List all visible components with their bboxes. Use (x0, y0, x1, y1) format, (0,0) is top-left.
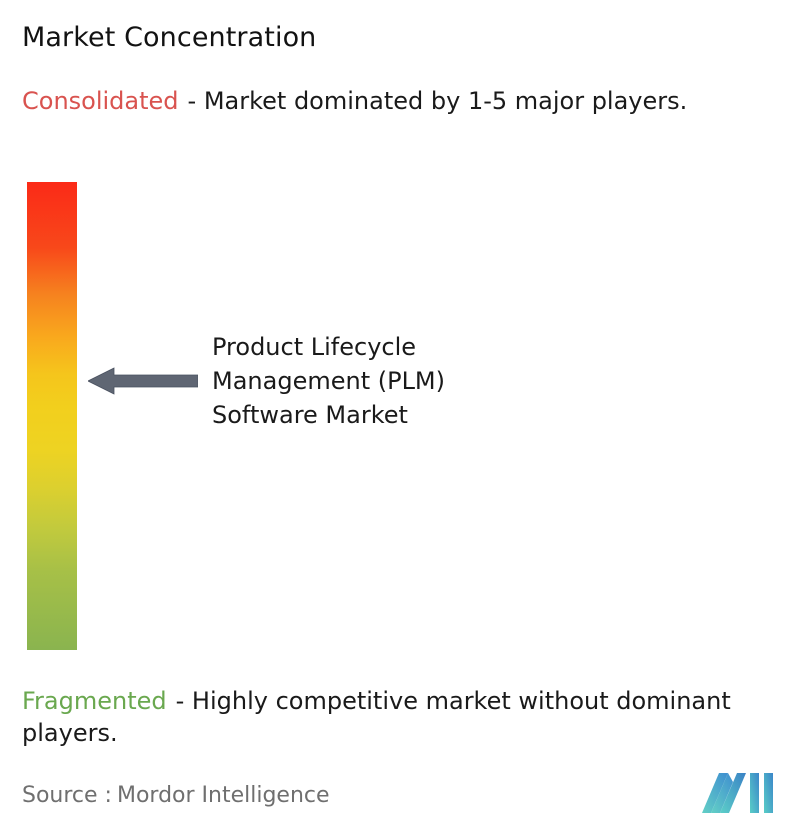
marker-label-line-1: Product Lifecycle (212, 330, 542, 364)
legend-consolidated-description: - Market dominated by 1-5 major players. (188, 87, 688, 115)
legend-fragmented-keyword: Fragmented (22, 687, 167, 715)
source-attribution: Source :Mordor Intelligence (22, 781, 330, 811)
mordor-intelligence-logo-icon (702, 769, 774, 817)
footer: Source :Mordor Intelligence (22, 781, 774, 821)
left-arrow-icon (88, 367, 198, 395)
marker-label-line-2: Management (PLM) (212, 364, 542, 398)
page-title: Market Concentration (22, 20, 316, 56)
source-name: Mordor Intelligence (117, 783, 330, 808)
legend-fragmented: Fragmented- Highly competitive market wi… (22, 685, 788, 749)
marker-label-line-3: Software Market (212, 398, 542, 432)
legend-consolidated-keyword: Consolidated (22, 87, 179, 115)
legend-consolidated: Consolidated- Market dominated by 1-5 ma… (22, 85, 778, 117)
concentration-gradient-bar (27, 182, 77, 650)
source-prefix: Source : (22, 783, 112, 808)
market-concentration-infographic: Market Concentration Consolidated- Marke… (0, 0, 796, 834)
marker-label: Product Lifecycle Management (PLM) Softw… (212, 330, 542, 432)
